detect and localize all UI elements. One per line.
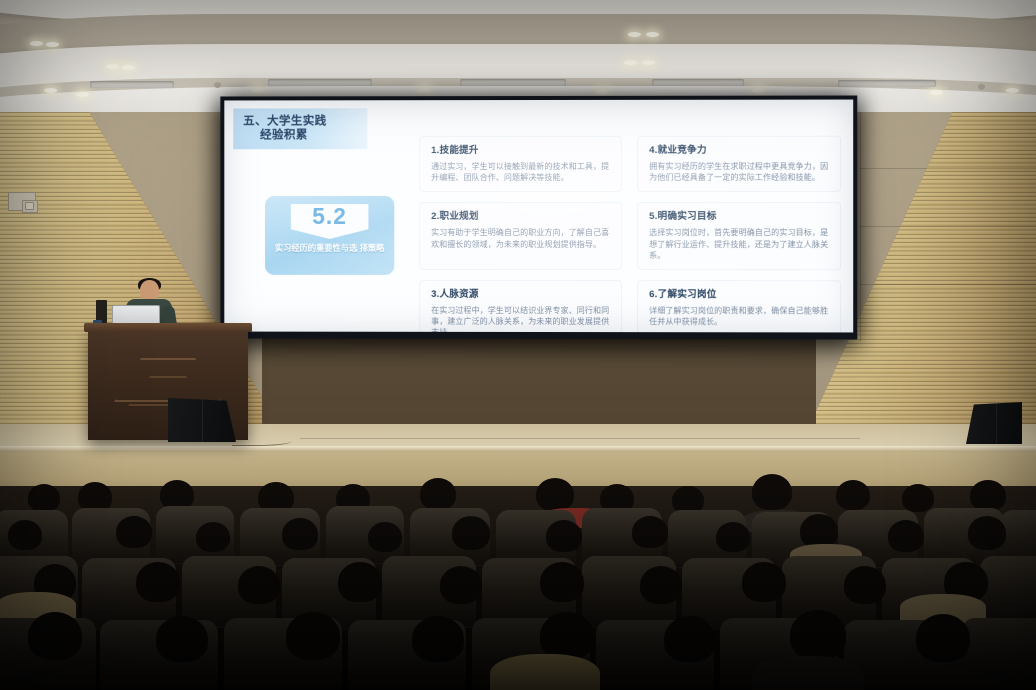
section-caption-line2: 择策略 [360,243,385,253]
section-number-box: 5.2 实习经历的重要性与选 择策略 [265,196,394,275]
section-number: 5.2 [312,204,347,229]
audience-head [836,480,870,510]
audience-head [844,566,886,604]
audience-shoulder [752,656,864,690]
ceiling-downlight [624,60,637,65]
ceiling-vent [90,81,174,88]
ceiling-downlight [106,64,119,69]
auditorium-seat [962,618,1036,690]
audience-head [664,616,716,662]
ceiling-downlight [418,88,431,93]
card-body: 拥有实习经历的学生在求职过程中更具竞争力，因为他们已经具备了一定的实际工作经验和… [649,161,829,184]
audience-head [970,480,1006,511]
audience-head [790,610,846,660]
ceiling-vent [838,80,936,87]
audience-shoulder [490,654,600,690]
smoke-detector-icon [214,82,221,88]
slide-card: 2.职业规划 实习有助于学生明确自己的职业方向，了解自己喜欢和擅长的领域，为未来… [419,202,622,270]
auditorium-photo: 五、大学生实践 经验积累 5.2 实习经历的重要性与选 择策略 1.技能提升 [0,0,1036,690]
audience-head [540,562,584,602]
ceiling-vent [652,79,744,86]
ceiling-downlight [1006,88,1019,93]
audience-head [640,566,682,604]
card-body: 选择实习岗位时，首先要明确自己的实习目标，是想了解行业运作、提升技能，还是为了建… [649,227,829,261]
slide-title: 五、大学生实践 经验积累 [233,108,367,149]
slide-title-line2: 经验积累 [243,128,362,142]
audience-head [632,516,668,548]
audience-head [368,522,402,552]
section-caption: 实习经历的重要性与选 择策略 [273,243,386,255]
card-body: 实习有助于学生明确自己的职业方向，了解自己喜欢和擅长的领域，为未来的职业规划提供… [431,227,610,249]
ceiling-downlight [752,88,765,93]
ceiling-downlight [46,42,59,47]
card-heading: 3.人脉资源 [431,289,610,300]
audience-head [968,516,1006,550]
podium-top [84,323,252,332]
audience-head [902,484,934,512]
section-number-ribbon: 5.2 [291,204,369,239]
audience-head [546,520,582,552]
wall-seam [860,168,1036,169]
audience-head [536,478,574,511]
audience-head [752,474,792,510]
slide-card: 4.就业竞争力 拥有实习经历的学生在求职过程中更具竞争力，因为他们已经具备了一定… [637,136,841,193]
card-heading: 5.明确实习目标 [649,211,829,222]
presenter-head [140,280,159,301]
ceiling-vent [268,79,372,86]
audience-head [136,562,180,602]
audience-head [916,614,970,662]
slide-card-grid: 1.技能提升 通过实习，学生可以接触到最新的技术和工具，提升编程、团队合作、问题… [419,136,841,319]
audience-head [28,612,82,660]
section-caption-line1: 实习经历的重要性与选 [275,243,357,253]
audience-head [800,514,838,548]
slide-card: 1.技能提升 通过实习，学生可以接触到最新的技术和工具，提升编程、团队合作、问题… [419,136,622,193]
ceiling-downlight [628,32,641,37]
slide-card: 6.了解实习岗位 详细了解实习岗位的职责和要求，确保自己能够胜任并从中获得成长。 [637,280,841,332]
card-heading: 2.职业规划 [431,211,610,222]
ceiling-downlight [30,41,43,46]
wall-seam [860,284,1036,285]
ceiling-downlight [646,32,659,37]
ceiling-downlight [122,65,135,70]
audience-head [742,562,786,602]
audience-head [716,522,750,552]
audience-head [412,616,464,662]
slide-card: 3.人脉资源 在实习过程中，学生可以结识业界专家、同行和同事，建立广泛的人脉关系… [419,280,622,333]
audience-head [440,566,482,604]
card-heading: 1.技能提升 [431,145,610,156]
smoke-detector-icon [26,31,33,37]
audience-head [238,566,280,604]
audience-area [0,486,1036,690]
stage-monitor-left [168,398,236,442]
audience-head [286,612,340,660]
audience-head [196,522,230,552]
ceiling-downlight [76,92,89,97]
ceiling-downlight [596,90,609,95]
audience-head [282,518,318,550]
card-body: 详细了解实习岗位的职责和要求，确保自己能够胜任并从中获得成长。 [649,305,829,328]
audience-head [540,612,594,660]
ceiling-downlight [930,90,943,95]
audience-head [8,520,42,550]
card-heading: 4.就业竞争力 [649,145,829,156]
stage-monitor-right [966,402,1022,444]
ceiling-downlight [44,88,57,93]
audience-head [338,562,382,602]
card-body: 通过实习，学生可以接触到最新的技术和工具，提升编程、团队合作、问题解决等技能。 [431,161,610,184]
presentation-slide: 五、大学生实践 经验积累 5.2 实习经历的重要性与选 择策略 1.技能提升 [224,100,853,333]
audience-head [116,516,152,548]
wall-seam [860,112,861,342]
audience-head [28,484,60,512]
ceiling-downlight [252,88,265,93]
ceiling-vent [460,79,566,86]
slide-card: 5.明确实习目标 选择实习岗位时，首先要明确自己的实习目标，是想了解行业运作、提… [637,202,841,270]
card-heading: 6.了解实习岗位 [649,289,829,300]
card-body: 在实习过程中，学生可以结识业界专家、同行和同事，建立广泛的人脉关系，为未来的职业… [431,305,610,333]
audience-head [420,478,456,510]
wall-seam [860,226,1036,227]
audience-head [156,616,208,662]
smoke-detector-icon [978,84,985,90]
slide-title-line1: 五、大学生实践 [243,114,326,127]
wall-switch-plate [25,202,34,210]
ceiling-downlight [642,60,655,65]
audience-head [888,520,924,552]
audience-head [452,516,490,550]
projection-screen: 五、大学生实践 经验积累 5.2 实习经历的重要性与选 择策略 1.技能提升 [220,96,857,340]
